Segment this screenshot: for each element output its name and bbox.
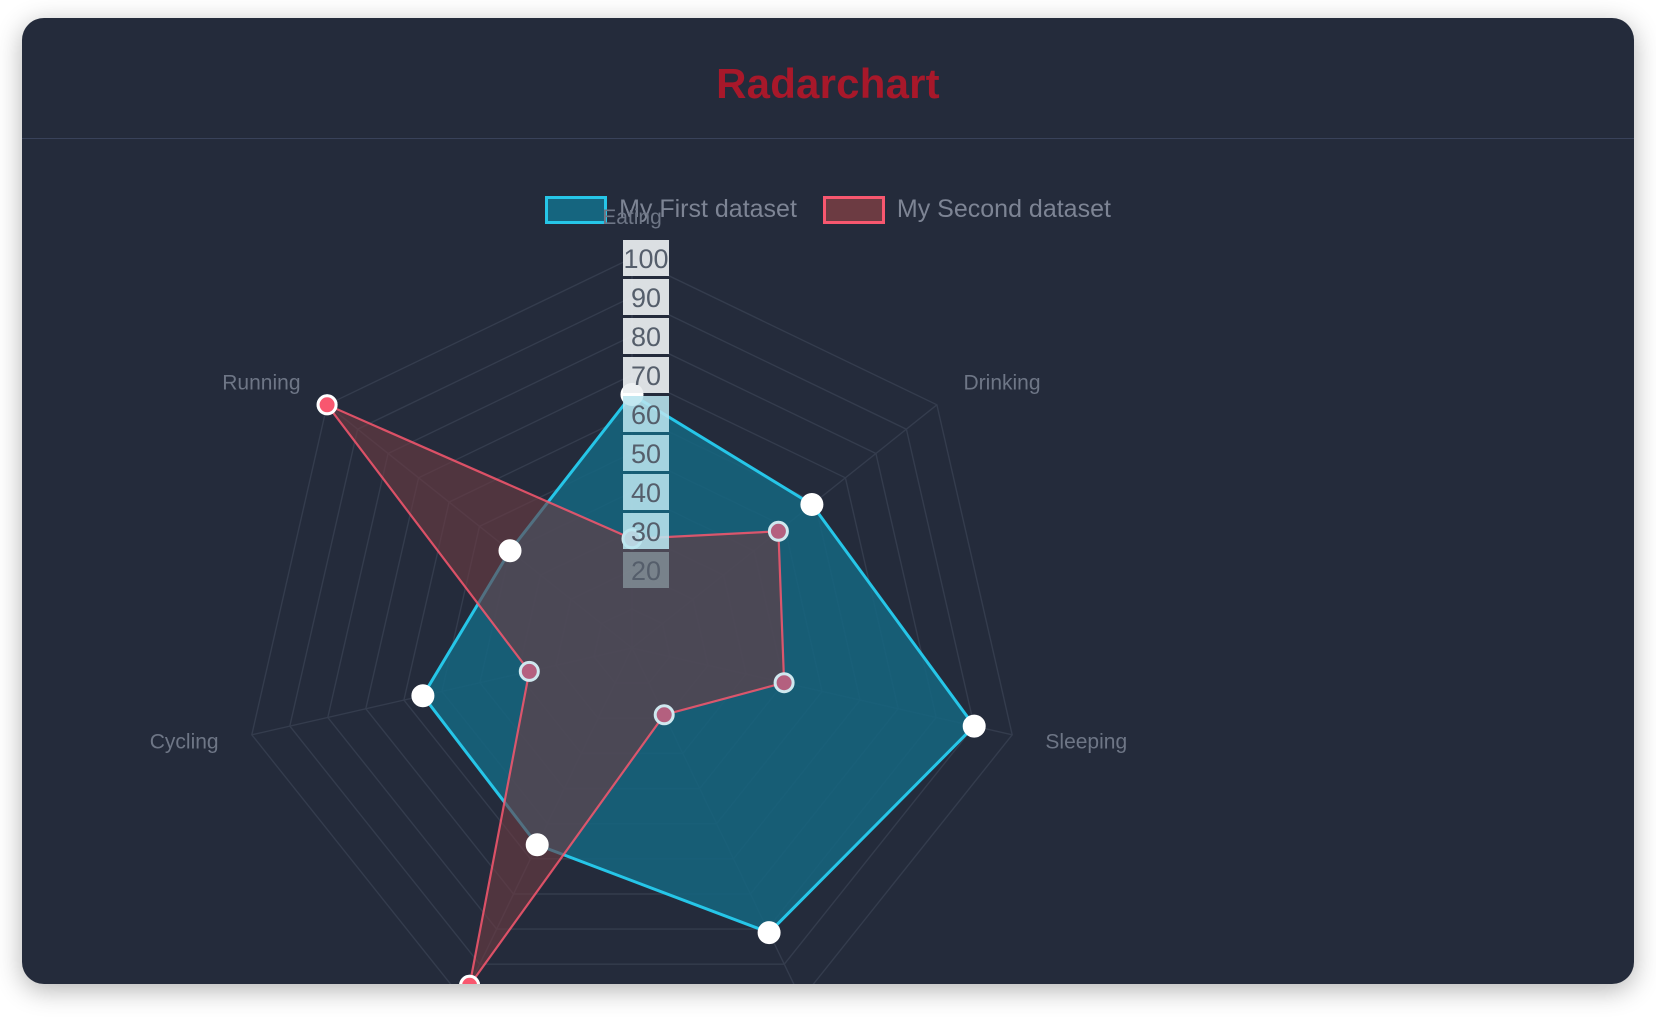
axis-label-sleeping: Sleeping — [1045, 730, 1127, 753]
tick-label: 90 — [631, 283, 661, 313]
page-title: Radarchart — [22, 60, 1634, 108]
data-point[interactable] — [499, 540, 521, 562]
tick-label: 40 — [631, 478, 661, 508]
data-point[interactable] — [801, 494, 823, 516]
card-header: Radarchart — [22, 18, 1634, 139]
tick-label: 20 — [631, 556, 661, 586]
tick-label: 70 — [631, 361, 661, 391]
data-point[interactable] — [769, 522, 787, 540]
axis-label-running: Running — [222, 372, 300, 395]
data-point[interactable] — [461, 976, 479, 984]
axis-label-drinking: Drinking — [964, 372, 1041, 395]
axis-label-eating: Eating — [602, 206, 662, 229]
tick-label: 60 — [631, 400, 661, 430]
axis-label-cycling: Cycling — [150, 730, 219, 753]
tick-label: 50 — [631, 439, 661, 469]
data-point[interactable] — [412, 685, 434, 707]
radar-tick-layer: 1009080706050403020 — [623, 240, 669, 588]
data-point[interactable] — [963, 715, 985, 737]
tick-label: 80 — [631, 322, 661, 352]
data-point[interactable] — [775, 674, 793, 692]
data-point[interactable] — [526, 834, 548, 856]
chart-body: My First dataset My Second dataset Eatin… — [22, 139, 1634, 984]
data-point[interactable] — [758, 922, 780, 944]
data-point[interactable] — [655, 706, 673, 724]
radar-plot: EatingDrinkingSleepingDesigningCodingCyc… — [22, 139, 1634, 984]
tick-label: 30 — [631, 517, 661, 547]
data-point[interactable] — [318, 396, 336, 414]
tick-label: 100 — [623, 244, 668, 274]
data-point[interactable] — [520, 662, 538, 680]
radar-chart-card: Radarchart My First dataset My Second da… — [22, 18, 1634, 984]
